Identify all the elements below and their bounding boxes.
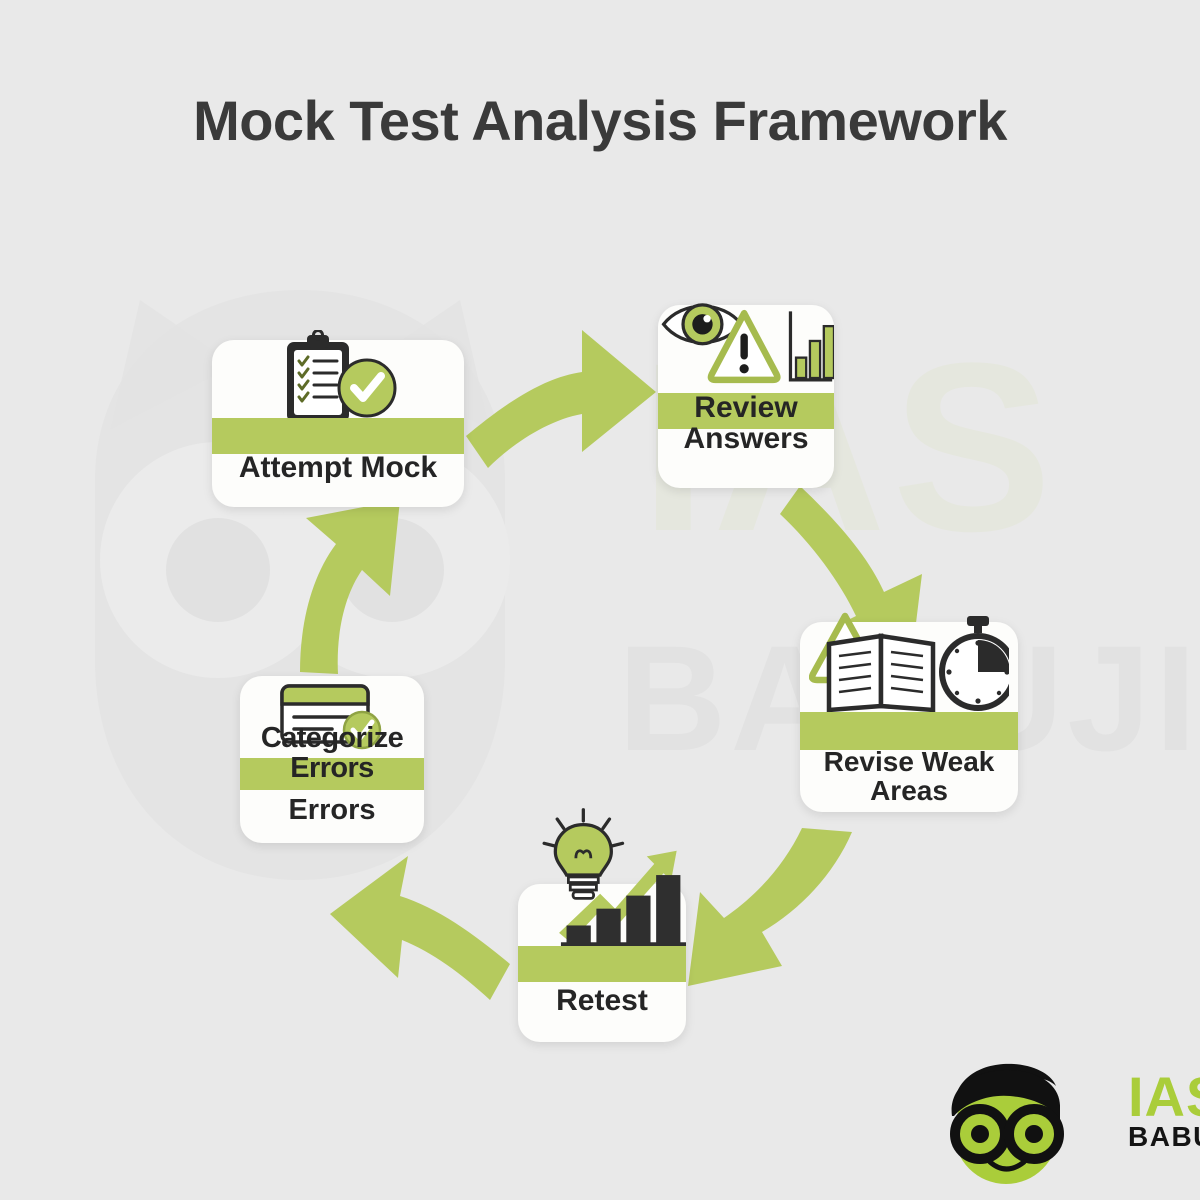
step-card-categorize-errors[interactable]: Categorize Errors Errors (240, 676, 424, 843)
step-label-categorize-errors-duplicate: Errors (240, 794, 424, 827)
stopwatch-icon (942, 616, 1009, 708)
attempt-mock-icon-group (212, 330, 464, 430)
step-label-categorize-errors: Categorize Errors (240, 723, 424, 783)
brand-logo-text: IAS BABUJI (1128, 1070, 1200, 1151)
open-book-icon (829, 636, 933, 710)
step-label-review-answers: Review Answers (658, 392, 834, 454)
check-circle-icon (339, 360, 395, 416)
step-card-retest[interactable]: Retest (518, 884, 686, 1042)
bar-chart-icon (790, 311, 834, 380)
retest-icon-group (518, 831, 686, 951)
logo-ias-text: IAS (1128, 1070, 1200, 1123)
step-label-revise-weak-areas: Revise Weak Areas (800, 747, 1018, 805)
card-accent-band (800, 712, 1018, 750)
clipboard-checklist-icon (287, 331, 349, 423)
lightbulb-icon (544, 810, 622, 899)
review-answers-icon-group (658, 283, 834, 398)
step-card-review-answers[interactable]: Review Answers (658, 305, 834, 488)
step-card-revise-weak-areas[interactable]: Revise Weak Areas (800, 622, 1018, 812)
step-label-attempt-mock: Attempt Mock (212, 452, 464, 483)
logo-babuji-text: BABUJI (1128, 1123, 1200, 1151)
arrow-attempt-to-review (466, 330, 656, 468)
card-accent-band (212, 418, 464, 454)
revise-weak-areas-icon-group (800, 610, 1018, 715)
arrow-retest-to-categorize (330, 856, 510, 1000)
step-card-attempt-mock[interactable]: Attempt Mock (212, 340, 464, 507)
page-title: Mock Test Analysis Framework (0, 88, 1200, 153)
step-label-retest: Retest (518, 985, 686, 1016)
arrow-revise-to-retest (688, 828, 852, 986)
card-accent-band (518, 946, 686, 982)
owl-mascot-glasses-icon (952, 1064, 1060, 1184)
arrow-categorize-to-attempt (300, 500, 400, 674)
